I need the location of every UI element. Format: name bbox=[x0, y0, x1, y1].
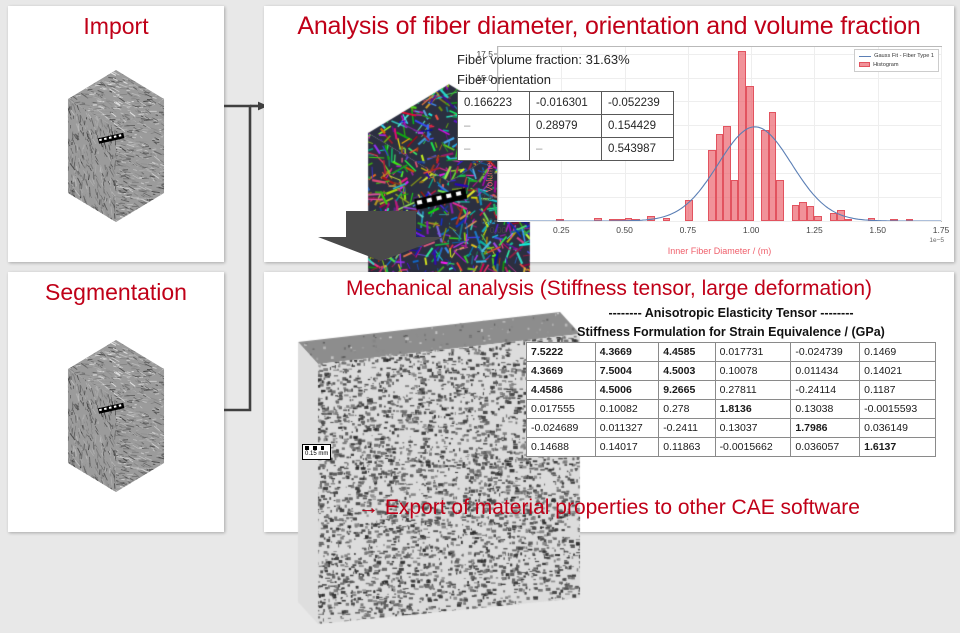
orientation-cell: -0.052239 bbox=[602, 92, 674, 115]
workflow-connector-arrows bbox=[224, 100, 268, 420]
fiber-orientation-label: Fiber orientation bbox=[457, 72, 674, 87]
gridline bbox=[688, 47, 689, 221]
table-row: 0.0175550.100820.2781.81360.13038-0.0015… bbox=[527, 400, 936, 419]
tensor-cell: 0.036057 bbox=[791, 438, 860, 457]
tensor-cell: -0.0015593 bbox=[860, 400, 936, 419]
tensor-cell: 7.5222 bbox=[527, 343, 596, 362]
tensor-cell: 0.14688 bbox=[527, 438, 596, 457]
table-row: ––0.543987 bbox=[458, 138, 674, 161]
histogram-bar bbox=[746, 86, 754, 221]
chart-x-axis-exponent: 1e−5 bbox=[929, 237, 944, 244]
x-axis-tick: 0.00 bbox=[490, 225, 507, 235]
tensor-cell: 0.036149 bbox=[860, 419, 936, 438]
histogram-bar bbox=[731, 180, 739, 221]
histogram-bar bbox=[830, 213, 838, 221]
segmented-slab-image: 0.15 mm bbox=[294, 308, 439, 468]
histogram-bar bbox=[738, 51, 746, 221]
histogram-bar bbox=[594, 218, 602, 221]
tensor-cell: 7.5004 bbox=[595, 362, 658, 381]
histogram-bar bbox=[890, 219, 898, 221]
x-axis-tick: 1.75 bbox=[933, 225, 950, 235]
tensor-cell: -0.24114 bbox=[791, 381, 860, 400]
legend-label-histogram: Histogram bbox=[873, 61, 899, 70]
histogram-bar bbox=[792, 205, 800, 221]
x-axis-tick: 0.50 bbox=[616, 225, 633, 235]
histogram-bar bbox=[868, 218, 876, 221]
ct-volume-cube-import bbox=[18, 46, 214, 246]
orientation-cell: 0.543987 bbox=[602, 138, 674, 161]
table-row: –0.289790.154429 bbox=[458, 115, 674, 138]
panel-segmentation: Segmentation bbox=[8, 272, 224, 532]
histogram-bar bbox=[708, 150, 716, 221]
tensor-cell: 0.10078 bbox=[715, 362, 791, 381]
histogram-bar bbox=[807, 206, 815, 221]
histogram-bar bbox=[647, 216, 655, 221]
stiffness-tensor-table: 7.52224.36694.45850.017731-0.0247390.146… bbox=[526, 342, 936, 457]
histogram-bar bbox=[837, 210, 845, 221]
fiber-diameter-histogram-chart: Volume Fraction / (%) Gauss Fit - Fiber … bbox=[442, 40, 950, 258]
scale-bar: 0.15 mm bbox=[302, 444, 331, 460]
table-row: 0.166223-0.016301-0.052239 bbox=[458, 92, 674, 115]
chart-legend: Gauss Fit - Fiber Type 1 Histogram bbox=[854, 49, 939, 72]
histogram-bar bbox=[617, 219, 625, 221]
tensor-cell: 0.011327 bbox=[595, 419, 658, 438]
orientation-cell: – bbox=[458, 138, 530, 161]
histogram-bar bbox=[761, 130, 769, 221]
panel-import: Import bbox=[8, 6, 224, 262]
scale-bar-label: 0.15 mm bbox=[305, 451, 328, 457]
gridline bbox=[878, 47, 879, 221]
panel-segmentation-title: Segmentation bbox=[8, 279, 224, 306]
segmented-fiber-cube bbox=[18, 316, 214, 516]
histogram-bar bbox=[776, 180, 784, 221]
tensor-cell: 0.11863 bbox=[659, 438, 715, 457]
stiffness-tensor-block: -------- Anisotropic Elasticity Tensor -… bbox=[526, 306, 936, 457]
orientation-cell: 0.166223 bbox=[458, 92, 530, 115]
tensor-cell: -0.024739 bbox=[791, 343, 860, 362]
x-axis-tick: 0.75 bbox=[680, 225, 697, 235]
histogram-bar bbox=[845, 219, 853, 221]
panel-analysis: Analysis of fiber diameter, orientation … bbox=[264, 6, 954, 262]
tensor-cell: 4.4586 bbox=[527, 381, 596, 400]
export-note: → Export of material properties to other… bbox=[264, 496, 954, 520]
tensor-cell: 0.017555 bbox=[527, 400, 596, 419]
tensor-cell: 0.1469 bbox=[860, 343, 936, 362]
x-axis-tick: 1.25 bbox=[806, 225, 823, 235]
gridline bbox=[498, 221, 941, 222]
histogram-bar bbox=[769, 112, 777, 221]
tensor-cell: 0.14021 bbox=[860, 362, 936, 381]
tensor-cell: 4.3669 bbox=[527, 362, 596, 381]
tensor-cell: 0.13037 bbox=[715, 419, 791, 438]
tensor-cell: 4.5006 bbox=[595, 381, 658, 400]
fiber-orientation-color-cube bbox=[284, 44, 449, 212]
y-axis-tick: 2.5 bbox=[481, 192, 493, 202]
tensor-cell: 4.5003 bbox=[659, 362, 715, 381]
orientation-cell: 0.28979 bbox=[530, 115, 602, 138]
table-row: 7.52224.36694.45850.017731-0.0247390.146… bbox=[527, 343, 936, 362]
tensor-cell: 4.3669 bbox=[595, 343, 658, 362]
gridline bbox=[814, 47, 815, 221]
histogram-bar bbox=[625, 218, 633, 221]
tensor-cell: 0.14017 bbox=[595, 438, 658, 457]
tensor-cell: -0.2411 bbox=[659, 419, 715, 438]
x-axis-tick: 1.00 bbox=[743, 225, 760, 235]
histogram-bar bbox=[814, 216, 822, 221]
tensor-cell: 4.4585 bbox=[659, 343, 715, 362]
orientation-cell: – bbox=[458, 115, 530, 138]
y-axis-tick: 5.0 bbox=[481, 168, 493, 178]
tensor-cell: 9.2665 bbox=[659, 381, 715, 400]
histogram-bar bbox=[685, 200, 693, 221]
histogram-bar bbox=[906, 219, 914, 221]
panel-mechanical-analysis: Mechanical analysis (Stiffness tensor, l… bbox=[264, 272, 954, 532]
fiber-orientation-table: 0.166223-0.016301-0.052239–0.289790.1544… bbox=[457, 91, 674, 161]
histogram-bar bbox=[632, 219, 640, 221]
histogram-bar bbox=[716, 134, 724, 221]
panel-import-title: Import bbox=[8, 13, 224, 40]
volume-fraction-text: Fiber volume fraction: 31.63% bbox=[457, 52, 674, 67]
histogram-bar bbox=[799, 202, 807, 221]
down-arrow-icon bbox=[316, 211, 446, 263]
tensor-cell: 1.7986 bbox=[791, 419, 860, 438]
legend-label-gauss: Gauss Fit - Fiber Type 1 bbox=[874, 52, 934, 61]
orientation-cell: – bbox=[530, 138, 602, 161]
tensor-cell: 0.011434 bbox=[791, 362, 860, 381]
panel-mechanical-title: Mechanical analysis (Stiffness tensor, l… bbox=[264, 277, 954, 301]
tensor-cell: 0.27811 bbox=[715, 381, 791, 400]
tensor-cell: 0.278 bbox=[659, 400, 715, 419]
orientation-cell: -0.016301 bbox=[530, 92, 602, 115]
histogram-bar bbox=[609, 219, 617, 221]
tensor-cell: 0.13038 bbox=[791, 400, 860, 419]
histogram-bar bbox=[663, 218, 671, 221]
panel-analysis-title: Analysis of fiber diameter, orientation … bbox=[264, 12, 954, 41]
tensor-cell: 0.10082 bbox=[595, 400, 658, 419]
table-row: 4.45864.50069.26650.27811-0.241140.1187 bbox=[527, 381, 936, 400]
histogram-bar bbox=[723, 126, 731, 221]
scale-bar-ticks bbox=[305, 446, 328, 450]
x-axis-tick: 1.50 bbox=[869, 225, 886, 235]
analysis-overlay-info: Fiber volume fraction: 31.63% Fiber orie… bbox=[457, 52, 674, 161]
table-row: 0.146880.140170.11863-0.00156620.0360571… bbox=[527, 438, 936, 457]
histogram-bar bbox=[556, 219, 564, 221]
legend-line-swatch bbox=[859, 56, 871, 57]
tensor-cell: 1.6137 bbox=[860, 438, 936, 457]
x-axis-tick: 0.25 bbox=[553, 225, 570, 235]
legend-box-swatch bbox=[859, 62, 870, 67]
gridline bbox=[941, 47, 942, 221]
chart-x-axis-label: Inner Fiber Diameter / (m) bbox=[497, 246, 942, 256]
orientation-cell: 0.154429 bbox=[602, 115, 674, 138]
tensor-cell: -0.0015662 bbox=[715, 438, 791, 457]
tensor-cell: 1.8136 bbox=[715, 400, 791, 419]
tensor-cell: 0.1187 bbox=[860, 381, 936, 400]
table-row: -0.0246890.011327-0.24110.130371.79860.0… bbox=[527, 419, 936, 438]
tensor-cell: 0.017731 bbox=[715, 343, 791, 362]
tensor-heading-anisotropic: -------- Anisotropic Elasticity Tensor -… bbox=[526, 306, 936, 320]
tensor-cell: -0.024689 bbox=[527, 419, 596, 438]
table-row: 4.36697.50044.50030.100780.0114340.14021 bbox=[527, 362, 936, 381]
tensor-heading-stiffness: Stiffness Formulation for Strain Equival… bbox=[526, 325, 936, 339]
